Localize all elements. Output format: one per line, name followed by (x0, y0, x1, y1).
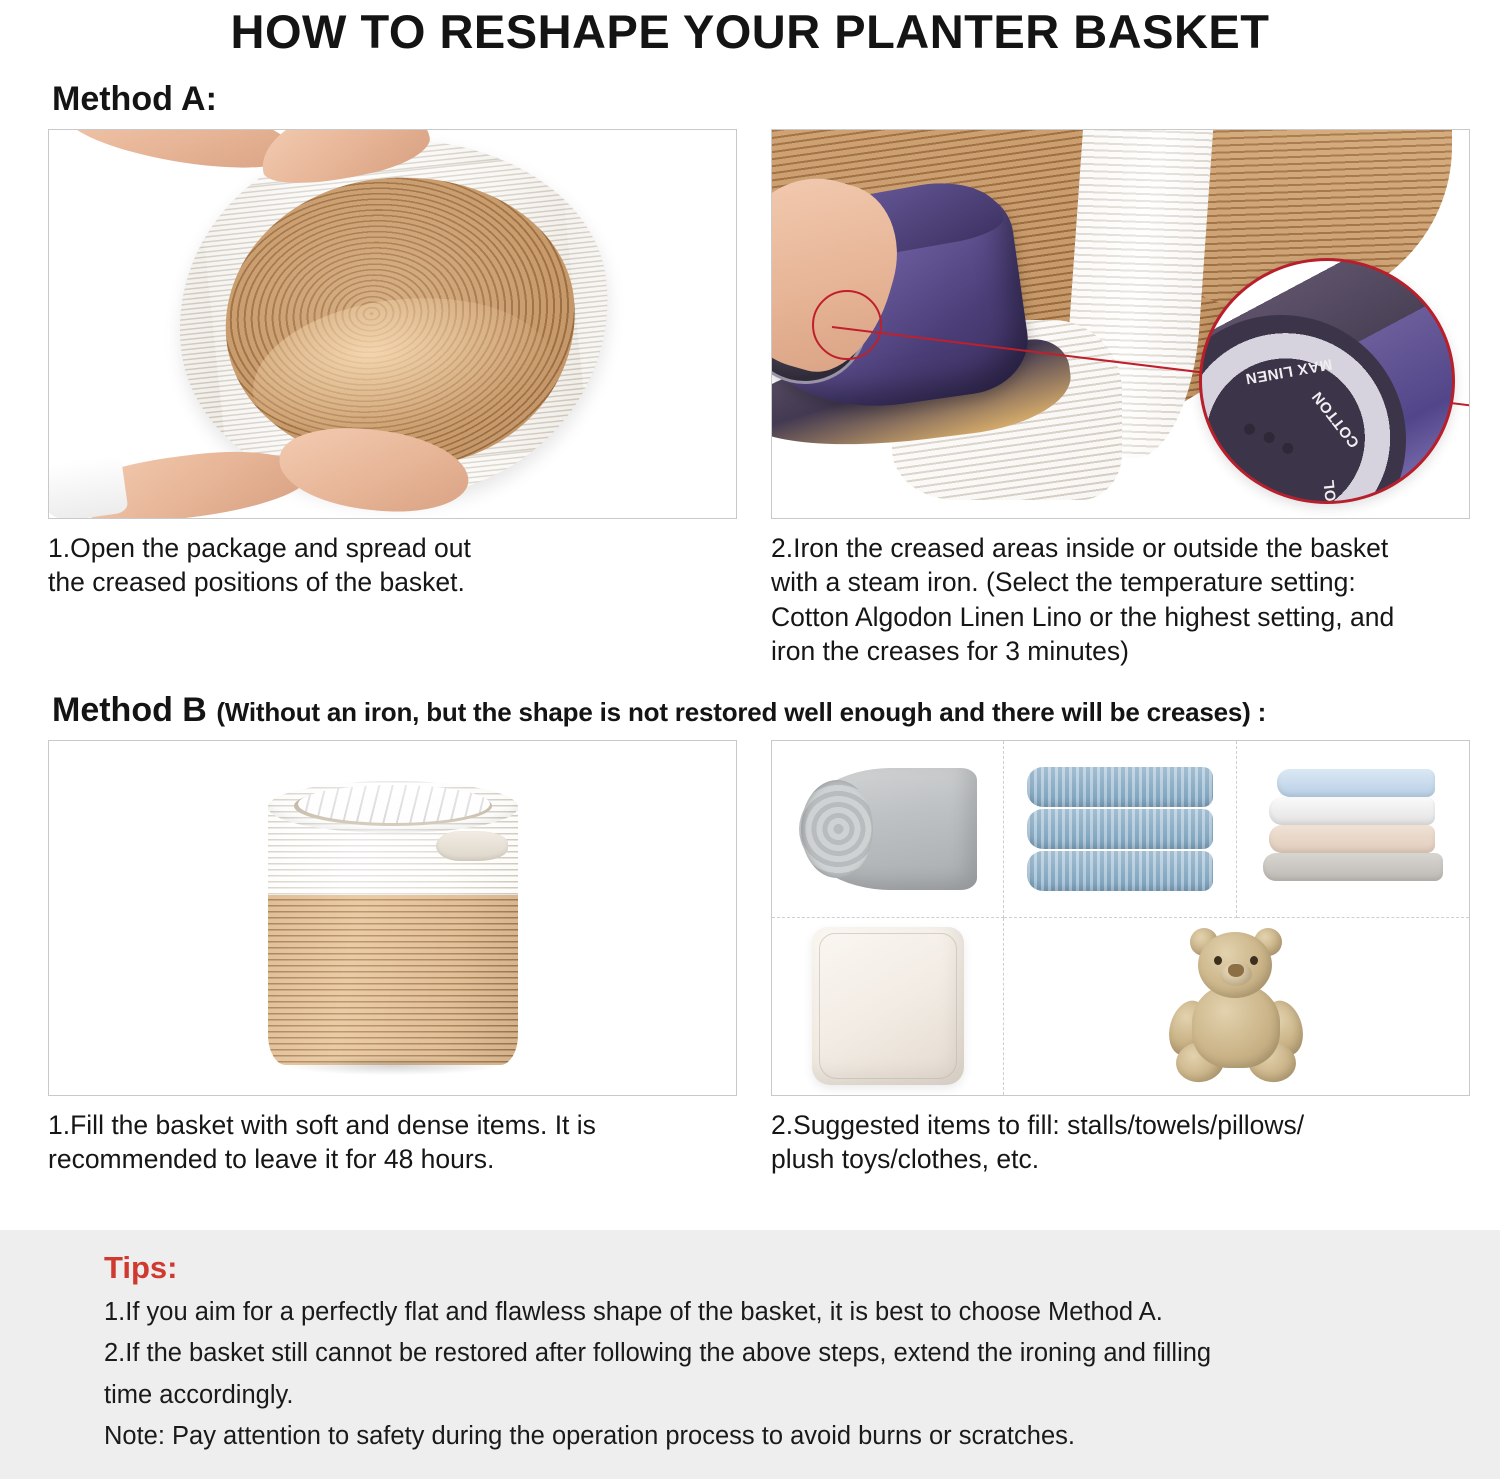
photo-scene-a1 (49, 130, 736, 518)
towel-fold-3 (1027, 851, 1213, 891)
stacked-folded-linens (1263, 765, 1443, 893)
bear-eye-right (1250, 956, 1258, 965)
dial-label-wool: WOOL (1321, 478, 1343, 504)
dial-label-cotton: COTTON (1309, 388, 1363, 451)
method-b-row: 1.Fill the basket with soft and dense it… (0, 740, 1500, 1177)
tips-band: Tips: 1.If you aim for a perfectly flat … (0, 1230, 1500, 1479)
dial-dot-3 (1280, 441, 1295, 456)
dial-label-max-linen: MAX LINEN (1244, 355, 1334, 387)
tips-line: 2.If the basket still cannot be restored… (104, 1333, 1500, 1374)
white-fabric-fill (298, 785, 490, 823)
tips-line: time accordingly. (104, 1375, 1500, 1416)
method-a-heading-label: Method A: (52, 80, 217, 118)
steam-iron-on-basket-photo: MAX LINEN COTTON WOOL (771, 129, 1470, 519)
basket-handle (436, 831, 508, 861)
bear-eye-left (1214, 956, 1222, 965)
linen-white (1269, 797, 1435, 825)
method-b-step-2: 2.Suggested items to fill: stalls/towels… (771, 740, 1470, 1177)
method-b-heading: Method B (Without an iron, but the shape… (0, 669, 1500, 740)
grid-cell-rolled-blanket (772, 741, 1004, 918)
tips-title: Tips: (104, 1250, 1500, 1286)
grid-cell-teddy-bear (1004, 918, 1469, 1095)
method-b-step-1: 1.Fill the basket with soft and dense it… (48, 740, 737, 1177)
callout-source-ring (812, 290, 882, 360)
grid-cell-blue-towels (1004, 741, 1236, 918)
step-caption: 2.Suggested items to fill: stalls/towels… (771, 1096, 1470, 1177)
items-grid (772, 741, 1469, 1095)
sleeve-cuff (48, 454, 129, 518)
linen-beige (1269, 825, 1435, 853)
filled-rope-basket-photo (48, 740, 737, 1096)
step-caption: 1.Fill the basket with soft and dense it… (48, 1096, 737, 1177)
grid-cell-linen-stack (1237, 741, 1469, 918)
iron-dial-zoom-callout: MAX LINEN COTTON WOOL (1199, 258, 1455, 504)
linen-gray (1263, 853, 1443, 881)
zoom-dial-face: MAX LINEN COTTON WOOL (1199, 273, 1448, 504)
suggested-fill-items-grid (771, 740, 1470, 1096)
towel-fold-1 (1027, 767, 1213, 807)
method-a-step-2: MAX LINEN COTTON WOOL 2.Iron the creased… (771, 129, 1470, 669)
step-caption: 1.Open the package and spread out the cr… (48, 519, 737, 600)
method-a-heading: Method A: (0, 58, 1500, 129)
method-b-heading-note: (Without an iron, but the shape is not r… (216, 697, 1266, 727)
bear-nose (1228, 964, 1244, 977)
tips-line: 1.If you aim for a perfectly flat and fl… (104, 1292, 1500, 1333)
tips-line: Note: Pay attention to safety during the… (104, 1416, 1500, 1457)
method-a-step-1: 1.Open the package and spread out the cr… (48, 129, 737, 669)
teddy-bear-plush-toy (1162, 926, 1312, 1086)
towel-fold-2 (1027, 809, 1213, 849)
rolled-gray-blanket (799, 768, 977, 890)
cream-pillow (812, 927, 964, 1085)
method-a-row: 1.Open the package and spread out the cr… (0, 129, 1500, 669)
folded-blue-towels (1027, 765, 1213, 893)
grid-cell-pillow (772, 918, 1004, 1095)
blanket-roll-spiral (801, 780, 873, 878)
dial-dot-1 (1242, 422, 1257, 437)
photo-scene-b1 (49, 741, 736, 1095)
two-tone-rope-basket (268, 769, 518, 1065)
dial-dot-2 (1262, 430, 1277, 445)
method-b-heading-label: Method B (52, 691, 207, 729)
photo-scene-a2: MAX LINEN COTTON WOOL (772, 130, 1469, 518)
drop-shadow (288, 1057, 498, 1075)
basket-lower-jute (268, 887, 518, 1065)
linen-blue (1277, 769, 1435, 797)
page-title: HOW TO RESHAPE YOUR PLANTER BASKET (0, 0, 1500, 58)
step-caption: 2.Iron the creased areas inside or outsi… (771, 519, 1470, 669)
hands-spreading-basket-photo (48, 129, 737, 519)
